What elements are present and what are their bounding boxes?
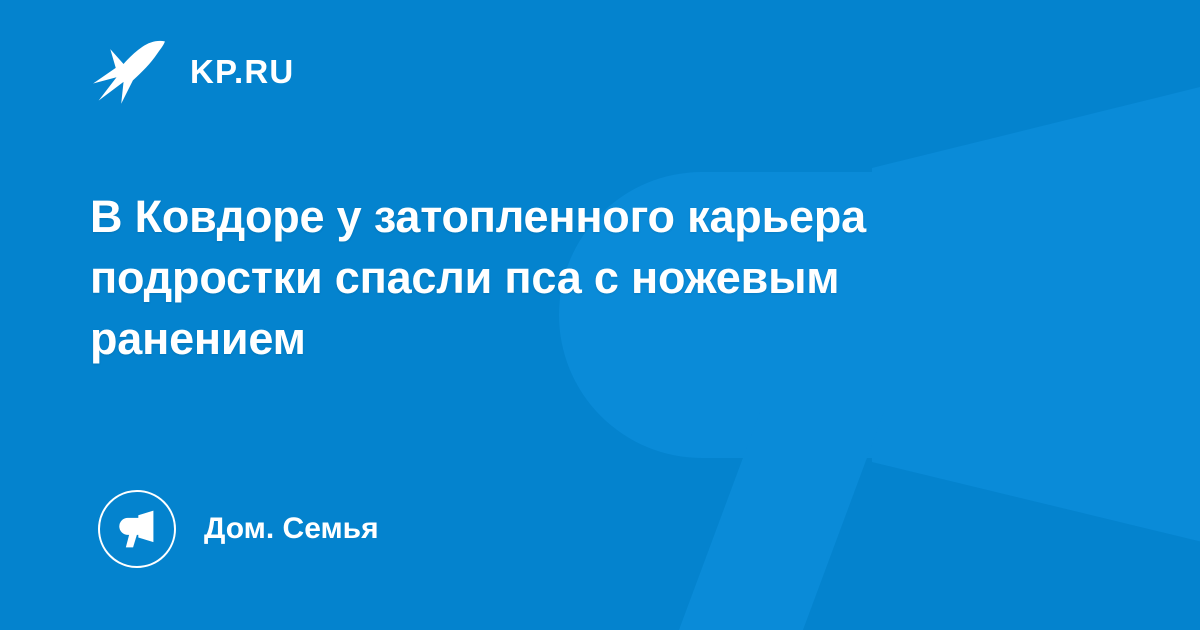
rubric-label: Дом. Семья — [204, 514, 379, 544]
swallow-bird-icon — [90, 32, 168, 110]
headline: В Ковдоре у затопленного карьера подрост… — [90, 186, 990, 369]
brand-logo[interactable]: KP.RU — [90, 32, 294, 110]
megaphone-icon — [116, 508, 158, 550]
rubric-badge[interactable]: Дом. Семья — [98, 490, 379, 568]
rubric-icon-circle — [98, 490, 176, 568]
brand-name: KP.RU — [190, 55, 294, 88]
social-share-card: KP.RU В Ковдоре у затопленного карьера п… — [0, 0, 1200, 630]
